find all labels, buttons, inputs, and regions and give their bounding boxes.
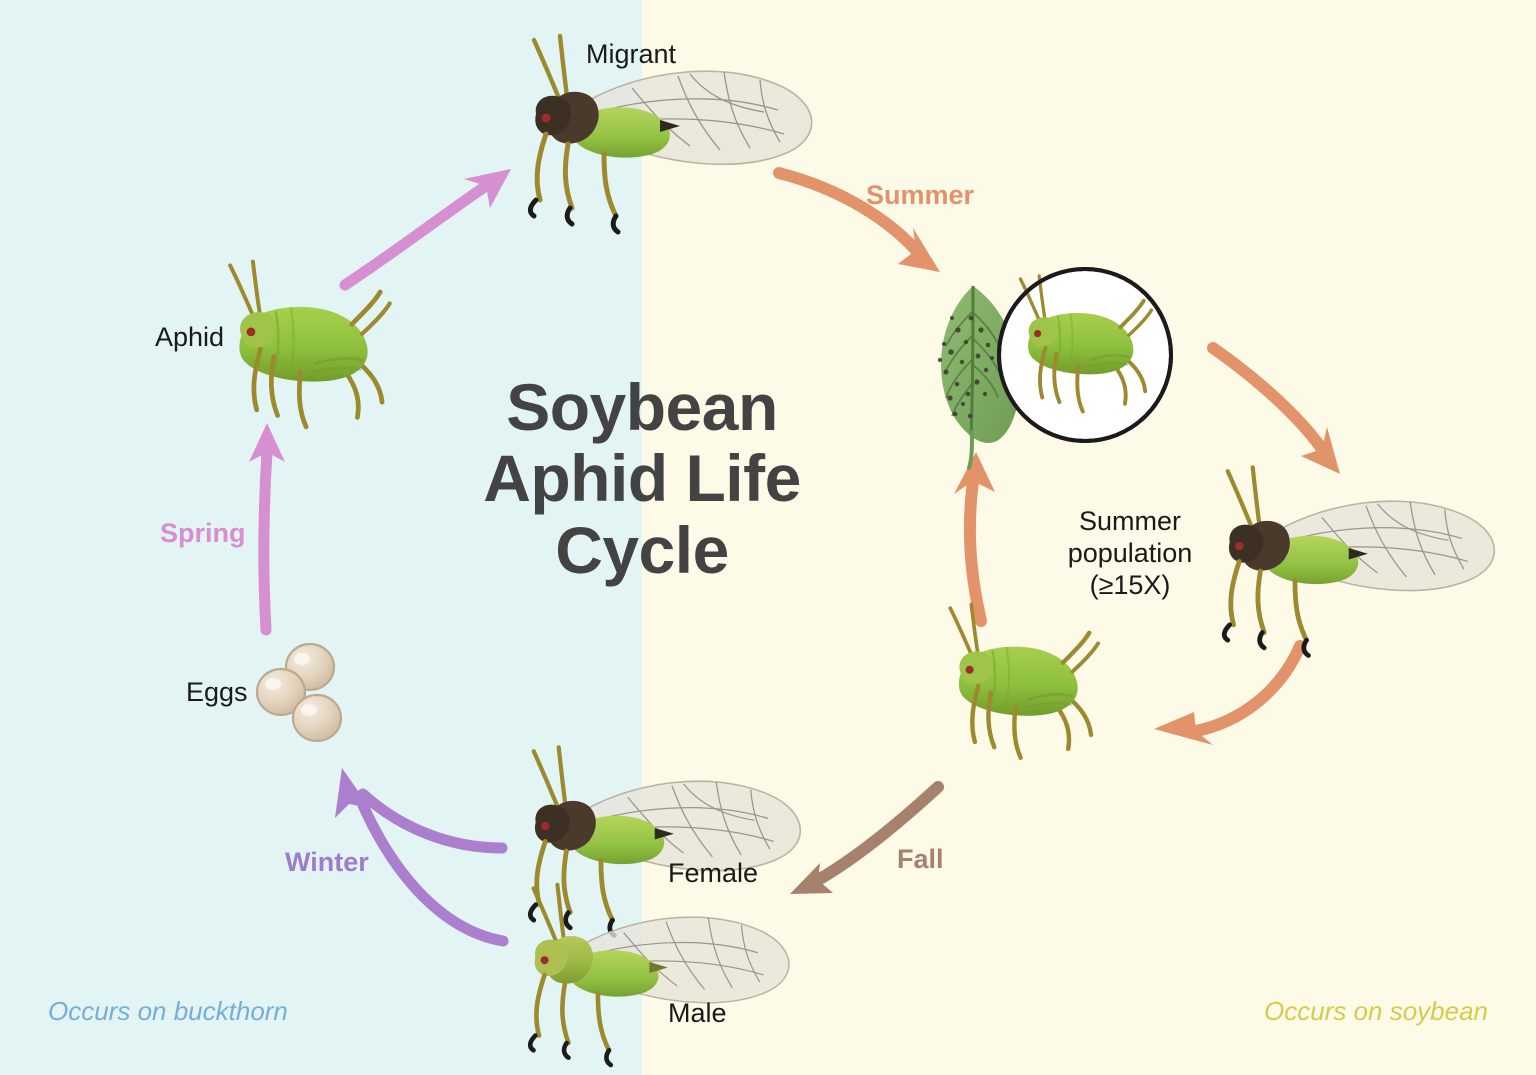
label-summer-population-line-3: (≥15X) (1040, 570, 1220, 602)
page-title-line-3: Cycle (382, 515, 902, 586)
magnifier-circle-icon (999, 269, 1171, 441)
label-summer-population: Summer population (≥15X) (1040, 506, 1220, 602)
footnote-soybean: Occurs on soybean (1264, 996, 1488, 1027)
egg-icon-group (257, 644, 341, 741)
season-label-fall: Fall (897, 844, 944, 875)
page-title-line-1: Soybean (382, 372, 902, 443)
page-title: Soybean Aphid Life Cycle (382, 372, 902, 586)
label-female: Female (668, 858, 758, 890)
label-eggs: Eggs (186, 677, 248, 709)
winged-aphid-icon-female (530, 747, 800, 935)
label-summer-population-line-2: population (1040, 538, 1220, 570)
season-label-winter: Winter (285, 847, 369, 878)
label-aphid: Aphid (155, 322, 224, 354)
aphid-icon-summer (950, 605, 1098, 758)
label-summer-population-line-1: Summer (1040, 506, 1220, 538)
footnote-buckthorn: Occurs on buckthorn (48, 996, 288, 1027)
page-title-line-2: Aphid Life (382, 443, 902, 514)
egg-icon (293, 695, 341, 741)
winged-aphid-icon-summer (1224, 467, 1494, 655)
label-migrant: Migrant (586, 39, 676, 71)
season-label-spring: Spring (160, 518, 246, 549)
season-label-summer: Summer (866, 180, 974, 211)
aphid-icon-spring (230, 262, 390, 427)
label-male: Male (668, 998, 727, 1030)
diagram-canvas: Soybean Aphid Life Cycle Migrant Aphid E… (0, 0, 1536, 1075)
